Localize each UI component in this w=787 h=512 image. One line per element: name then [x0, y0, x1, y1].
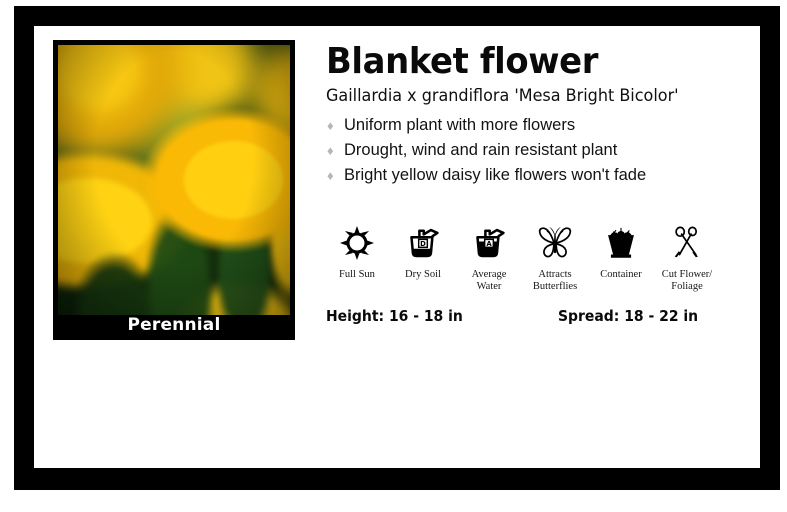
container-icon: [588, 222, 654, 264]
cut-flower-foliage-icon: [654, 222, 720, 264]
botanical-name: Gaillardia x grandiflora 'Mesa Bright Bi…: [326, 85, 733, 107]
page-title: Blanket flower: [326, 42, 721, 82]
care-icon-cell-dry-soil: D Dry Soil: [390, 222, 456, 281]
care-icon-label: Attracts Butterflies: [522, 269, 588, 293]
label-line-1: Attracts: [538, 269, 571, 280]
care-icon-label: Cut Flower/ Foliage: [654, 269, 720, 293]
feature-text: Bright yellow daisy like flowers won't f…: [344, 166, 646, 184]
diamond-bullet-icon: ♦: [327, 138, 334, 163]
care-icon-label: Full Sun: [324, 269, 390, 281]
blanket-flower-photo: [58, 45, 290, 315]
care-icon-cell-container: Container: [588, 222, 654, 281]
care-icon-cell-cut-flower: Cut Flower/ Foliage: [654, 222, 720, 293]
full-sun-icon: [324, 222, 390, 264]
info-column: Blanket flower Gaillardia x grandiflora …: [326, 42, 746, 188]
dry-soil-icon: D: [390, 222, 456, 264]
care-icon-cell-attracts-butterflies: Attracts Butterflies: [522, 222, 588, 293]
list-item: ♦ Bright yellow daisy like flowers won't…: [326, 163, 746, 188]
plant-tag-card: Perennial Blanket flower Gaillardia x gr…: [14, 6, 780, 490]
average-water-icon: A: [456, 222, 522, 264]
care-icon-label: Average Water: [456, 269, 522, 293]
photo-block: Perennial: [53, 40, 295, 340]
care-icon-row: Full Sun D Dry Soil: [324, 222, 744, 293]
label-line-2: Water: [477, 281, 502, 292]
list-item: ♦ Drought, wind and rain resistant plant: [326, 138, 746, 163]
diamond-bullet-icon: ♦: [327, 113, 334, 138]
svg-text:D: D: [420, 240, 426, 248]
spread-value: Spread: 18 - 22 in: [558, 307, 698, 325]
height-value: Height: 16 - 18 in: [326, 307, 463, 325]
feature-text: Uniform plant with more flowers: [344, 116, 575, 134]
label-line-2: Butterflies: [533, 281, 577, 292]
plant-type-band: Perennial: [53, 310, 295, 340]
diamond-bullet-icon: ♦: [327, 163, 334, 188]
feature-text: Drought, wind and rain resistant plant: [344, 141, 617, 159]
feature-list: ♦ Uniform plant with more flowers ♦ Drou…: [326, 113, 746, 188]
attracts-butterflies-icon: [522, 222, 588, 264]
care-icon-label: Container: [588, 269, 654, 281]
label-line-1: Average: [472, 269, 507, 280]
label-line-1: Cut Flower/: [662, 269, 712, 280]
photo-vignette: [58, 45, 290, 315]
care-icon-cell-full-sun: Full Sun: [324, 222, 390, 281]
care-icon-cell-average-water: A Average Water: [456, 222, 522, 293]
list-item: ♦ Uniform plant with more flowers: [326, 113, 746, 138]
svg-text:A: A: [486, 240, 492, 248]
care-icon-label: Dry Soil: [390, 269, 456, 281]
plant-tag-inner: Perennial Blanket flower Gaillardia x gr…: [34, 26, 760, 468]
label-line-2: Foliage: [671, 281, 703, 292]
